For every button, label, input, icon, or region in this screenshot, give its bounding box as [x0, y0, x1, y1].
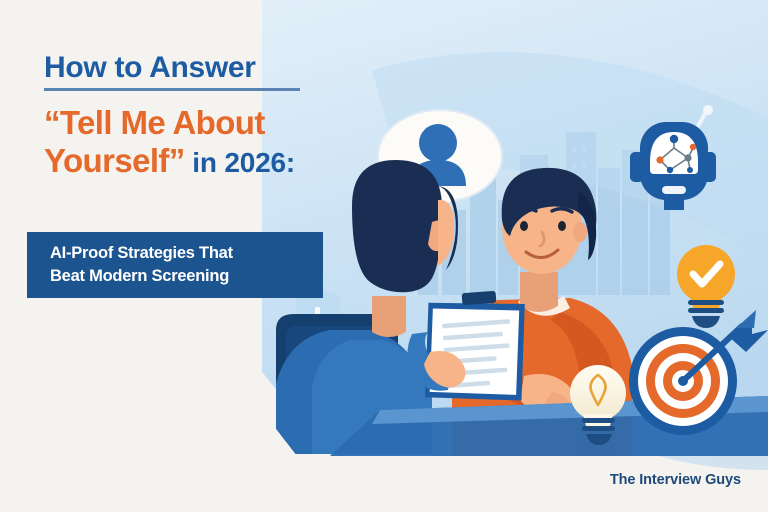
ai-robot-icon: [630, 105, 716, 210]
desk-surface: [330, 396, 768, 456]
clipboard-document: [407, 291, 531, 407]
headline-underline: [44, 88, 300, 91]
interviewer-figure: [276, 160, 458, 454]
speech-bubble-user-icon: [378, 110, 502, 214]
headline-year: in 2026:: [185, 147, 295, 178]
headline-line-1: How to Answer: [44, 52, 374, 84]
lightbulb-idea-icon: [570, 365, 626, 445]
headline-line-2: “Tell Me About: [44, 105, 374, 142]
background-arc: [444, 0, 768, 470]
subtitle-line-1: AI-Proof Strategies That: [50, 242, 323, 265]
candidate-figure: [452, 168, 632, 456]
subtitle-line-2: Beat Modern Screening: [50, 265, 323, 288]
headline-line-3: Yourself” in 2026:: [44, 143, 374, 180]
city-skyline: [418, 132, 670, 295]
lightbulb-check-icon: [677, 245, 735, 328]
headline-quote-end: Yourself”: [44, 142, 185, 179]
target-arrow-icon: [629, 310, 768, 435]
arc-accent: [372, 52, 768, 260]
featured-image-canvas: How to Answer “Tell Me About Yourself” i…: [0, 0, 768, 512]
subtitle-banner: AI-Proof Strategies That Beat Modern Scr…: [27, 232, 323, 298]
headline-block: How to Answer “Tell Me About Yourself” i…: [44, 52, 374, 180]
brand-name: The Interview Guys: [610, 472, 741, 488]
neural-network-glyph: [656, 135, 696, 173]
shield-icon: [296, 290, 340, 366]
